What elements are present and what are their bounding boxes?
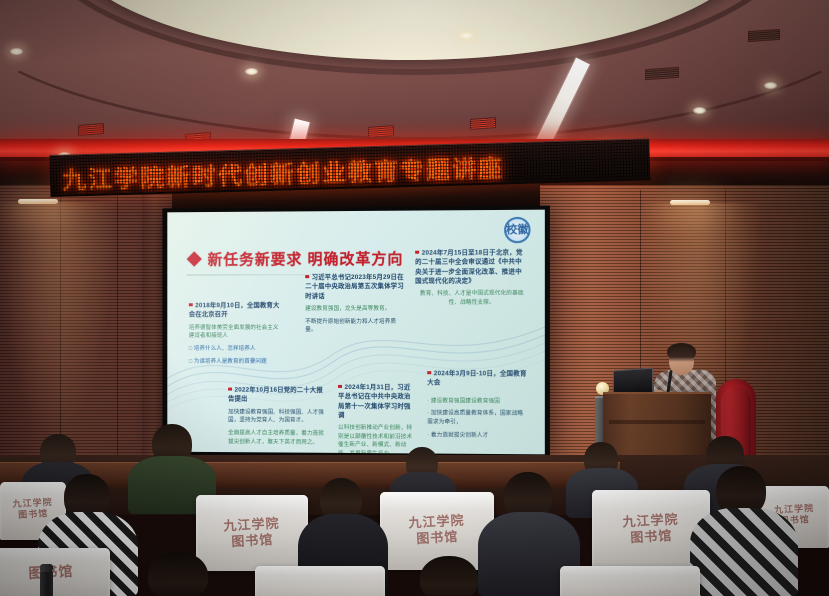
square-bullet-icon [228, 387, 231, 390]
covered-auditorium-seat [560, 566, 700, 596]
ceiling-arc-3 [0, 0, 829, 152]
attendee-torso [690, 508, 798, 596]
slide-block-2018: 2018年9月10日，全国教育大会在北京召开 培养德智体美劳全面发展的社会主义建… [189, 301, 284, 366]
university-logo-icon: 校徽 [504, 217, 530, 243]
slide-block-sub: 加快建设教育强国、科技强国、人才强国，坚持为党育人、为国育才。 [228, 408, 325, 426]
slide-block-heading: 习近平总书记2023年5月29日在二十届中央政治局第五次集体学习时讲话 [305, 273, 405, 301]
covered-auditorium-seat: 九江学院 图书馆 [196, 495, 308, 571]
ceiling-spotlight [10, 48, 23, 55]
ceiling-spotlight [693, 107, 706, 114]
slide-block-sub: □ 为谁培养人是教育的首要问题 [189, 357, 284, 366]
logo-mark-text: 校徽 [506, 224, 528, 235]
slide-block-2023: 习近平总书记2023年5月29日在二十届中央政治局第五次集体学习时讲话 建设教育… [305, 273, 405, 335]
wall-downlight [670, 200, 710, 205]
slide-block-2024-march: 2024年3月9日-10日，全国教育大会 · 建设教育强国建设教育强国 · 加快… [427, 369, 528, 440]
square-bullet-icon [427, 371, 431, 375]
slide-block-sub: · 加快建设高质量教育体系，国家战略需求为牵引， [427, 410, 528, 428]
bottle-cap [40, 564, 53, 572]
slide-block-sub: 全面提高人才自主培养质量，着力造就拔尖创新人才，聚天下英才而用之。 [228, 429, 325, 447]
slide-block-sub: 培养德智体美劳全面发展的社会主义建设者和接班人 [189, 324, 284, 341]
auditorium-ceiling [0, 0, 829, 152]
ceiling-air-vent [470, 117, 496, 130]
wall-seam [117, 190, 118, 470]
chair-cover-label: 九江学院 图书馆 [195, 515, 309, 553]
slide-block-heading: 2018年9月10日，全国教育大会在北京召开 [189, 301, 284, 320]
slide-block-heading: 2024年1月31日，习近平总书记在中共中央政治局第十一次集体学习时强调 [338, 383, 416, 420]
slide-block-2024-july: 2024年7月15日至18日于北京，党的二十届三中全会审议通过《中共中央关于进一… [415, 248, 528, 307]
slide-block-heading: 2024年7月15日至18日于北京，党的二十届三中全会审议通过《中共中央关于进一… [415, 248, 528, 286]
covered-auditorium-seat [255, 566, 385, 596]
covered-auditorium-seat: 图书馆 [0, 548, 110, 596]
water-bottle [40, 570, 53, 596]
ceiling-spotlight [460, 32, 473, 39]
slide-block-sub: 不断提升原始创新能力和人才培养质量。 [305, 317, 405, 334]
ceiling-spotlight [245, 68, 258, 75]
attendee-head [148, 552, 208, 596]
square-bullet-icon [189, 303, 192, 306]
slide-block-2024-jan: 2024年1月31日，习近平总书记在中共中央政治局第十一次集体学习时强调 以科技… [338, 383, 416, 454]
slide-title: ◆ 新任务新要求 明确改革方向 [187, 248, 404, 270]
wall-seam [60, 190, 61, 470]
chair-cover-label: 图书馆 [0, 562, 110, 586]
slide-block-sub: · 着力造就拔尖创新人才 [427, 431, 528, 440]
wall-panel-left [0, 185, 160, 485]
ceiling-air-vent [368, 125, 394, 138]
ceiling-air-vent [748, 29, 780, 42]
ceiling-spotlight [764, 82, 777, 89]
slide-block-2022: 2022年10月16日党的二十大报告提出 加快建设教育强国、科技强国、人才强国，… [228, 386, 325, 447]
square-bullet-icon [338, 384, 341, 388]
wall-downlight [18, 199, 58, 204]
led-banner-text: 九江学院新时代创新创业教育专题讲座 [62, 148, 505, 195]
slide-block-sub: 建设教育强国，龙头是高等教育。 [305, 305, 405, 314]
square-bullet-icon [305, 275, 308, 279]
ceiling-air-vent [78, 123, 104, 136]
slide-block-sub: 教育、科技、人才是中国式现代化的基础性、战略性支撑。 [415, 290, 528, 308]
attendee-head [420, 556, 478, 596]
presentation-slide: 校徽 ◆ 新任务新要求 明确改革方向 2018年9月10日，全国教育大会在北京召… [167, 210, 545, 455]
slide-block-sub: · 建设教育强国建设教育强国 [427, 397, 528, 406]
slide-block-heading: 2024年3月9日-10日，全国教育大会 [427, 369, 528, 388]
projection-screen-frame: 校徽 ◆ 新任务新要求 明确改革方向 2018年9月10日，全国教育大会在北京召… [162, 206, 550, 459]
slide-block-sub: 以科技创新推动产业创新，特别是以颠覆性技术和前沿技术催生新产业、新模式、新动能，… [338, 424, 416, 454]
presenter-head [669, 346, 694, 375]
lecture-hall-photo: 校徽 ◆ 新任务新要求 明确改革方向 2018年9月10日，全国教育大会在北京召… [0, 0, 829, 596]
slide-block-sub: □ 培养什么人、怎样培养人 [189, 345, 284, 354]
square-bullet-icon [415, 250, 419, 254]
slide-block-heading: 2022年10月16日党的二十大报告提出 [228, 386, 325, 405]
